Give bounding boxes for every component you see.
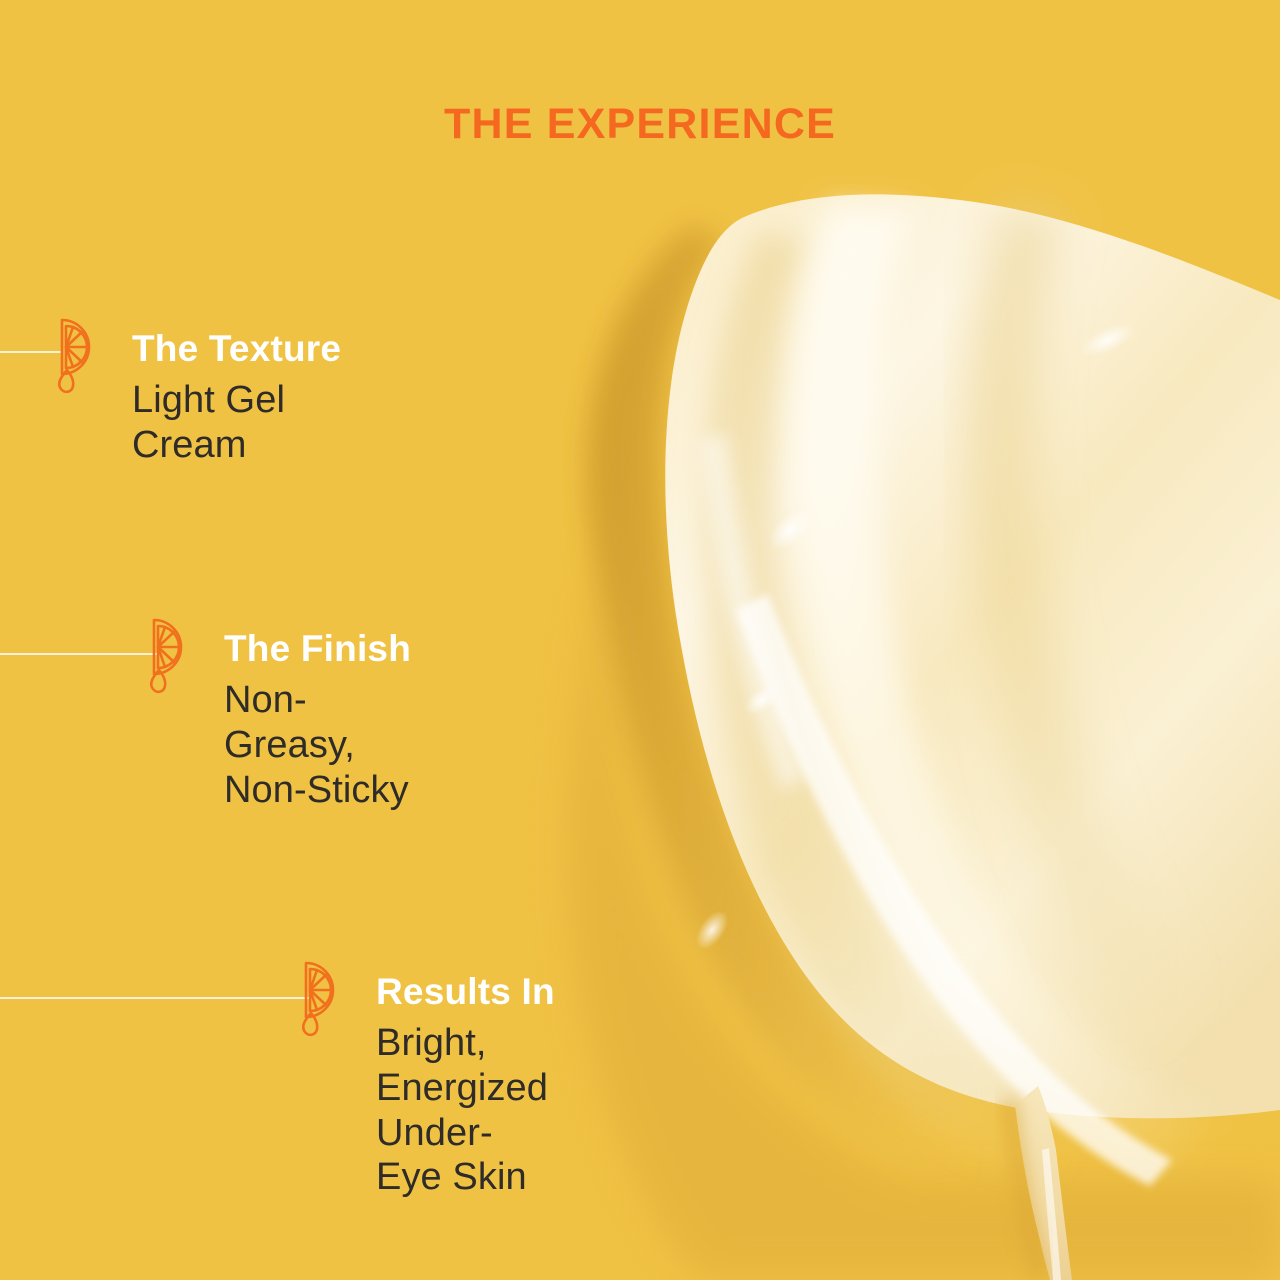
- leader-line-3: [0, 997, 310, 999]
- citrus-slice-drop-icon: [140, 612, 212, 698]
- cream-gloss-streak: [736, 594, 1172, 1186]
- citrus-slice-drop-icon: [48, 312, 120, 398]
- feature-description: Light Gel Cream: [132, 378, 341, 468]
- cream-swirl-highlight-1: [796, 206, 1220, 1168]
- cream-gloss-streak-2: [700, 434, 806, 790]
- feature-text-block: The Texture Light Gel Cream: [132, 330, 341, 468]
- experience-infographic: THE EXPERIENCE The Texture Light Gel Cre…: [0, 0, 1280, 1280]
- feature-description: Non-Greasy, Non-Sticky: [224, 678, 411, 812]
- cream-drip: [1015, 1086, 1072, 1280]
- cream-drip-shadow: [1000, 1098, 1048, 1280]
- citrus-slice-drop-icon: [292, 955, 364, 1041]
- feature-description: Bright, Energized Under-Eye Skin: [376, 1021, 555, 1200]
- cream-rim-shadow: [587, 225, 1060, 1210]
- cream-highlight-dot-1: [761, 503, 819, 558]
- cream-highlight-dot-4: [690, 905, 735, 955]
- page-title: THE EXPERIENCE: [0, 100, 1280, 149]
- feature-label: The Texture: [132, 330, 341, 367]
- cream-highlight-dot-2: [739, 680, 784, 721]
- cream-cast-shadow: [569, 470, 1280, 1280]
- cream-body: [665, 194, 1280, 1118]
- feature-label: The Finish: [224, 630, 411, 667]
- feature-text-block: The Finish Non-Greasy, Non-Sticky: [224, 630, 411, 812]
- cream-drip-highlight: [1042, 1148, 1061, 1280]
- feature-label: Results In: [376, 973, 555, 1010]
- feature-text-block: Results In Bright, Energized Under-Eye S…: [376, 973, 555, 1200]
- cream-swirl-shadow-2: [967, 202, 1200, 1040]
- leader-line-2: [0, 653, 160, 655]
- cream-swirl-shadow-1: [703, 232, 1090, 1182]
- cream-highlight-dot-3: [1076, 316, 1141, 363]
